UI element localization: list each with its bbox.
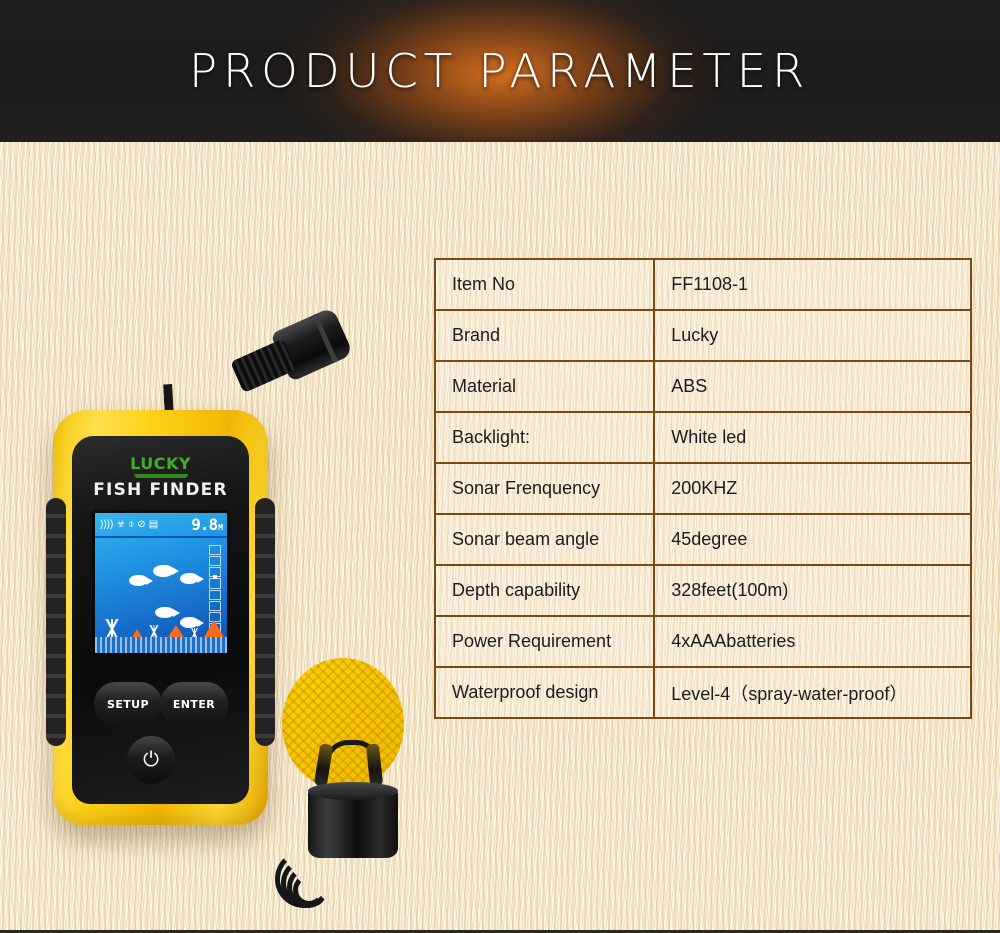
coil-loop: [293, 874, 325, 906]
button-pair: SETUP ENTER: [94, 682, 228, 726]
spec-label: Sonar Frenquency: [435, 463, 654, 514]
spec-value: White led: [654, 412, 971, 463]
page-header-banner: PRODUCT PARAMETER: [0, 0, 1000, 142]
spec-label: Sonar beam angle: [435, 514, 654, 565]
connector-neck: [230, 338, 297, 393]
scale-tick: [209, 578, 221, 588]
seaweed-icon: [101, 619, 123, 639]
bracket-arm-left: [314, 743, 333, 787]
spec-label: Brand: [435, 310, 654, 361]
fish-finder-unit: LUCKY FISH FINDER )))) ☣ ⌽ ⊘ ▤: [53, 410, 268, 825]
setup-button[interactable]: SETUP: [94, 682, 162, 726]
table-row: Depth capability 328feet(100m): [435, 565, 971, 616]
battery-icon: ▤: [149, 520, 158, 530]
power-icon: ⏻: [143, 749, 159, 772]
scale-tick: [209, 545, 221, 555]
scale-tick: [209, 556, 221, 566]
sonar-transducer: [308, 770, 398, 858]
fish-alarm-off-icon: ⌽: [128, 520, 134, 530]
table-row: Brand Lucky: [435, 310, 971, 361]
fish-finder-label: FISH FINDER: [72, 480, 249, 500]
lcd-depth-value: 9.8: [191, 515, 217, 534]
cable-connector: [226, 307, 353, 402]
spec-label: Power Requirement: [435, 616, 654, 667]
spec-value: Level-4（spray-water-proof）: [654, 667, 971, 718]
lucky-brand-logo: LUCKY: [72, 454, 249, 473]
spec-value: 200KHZ: [654, 463, 971, 514]
table-row: Waterproof design Level-4（spray-water-pr…: [435, 667, 971, 718]
table-row: Item No FF1108-1: [435, 259, 971, 310]
spec-value: 4xAAAbatteries: [654, 616, 971, 667]
sonar-waves-icon: )))): [100, 520, 113, 530]
spec-label: Depth capability: [435, 565, 654, 616]
transducer-bracket: [314, 740, 392, 786]
spec-value: Lucky: [654, 310, 971, 361]
page-title: PRODUCT PARAMETER: [189, 44, 810, 98]
fish-icon: [129, 575, 147, 586]
spec-label: Material: [435, 361, 654, 412]
table-row: Power Requirement 4xAAAbatteries: [435, 616, 971, 667]
lcd-cursor-dot: [213, 575, 217, 579]
lcd-screen: )))) ☣ ⌽ ⊘ ▤ 9.8M: [92, 510, 230, 656]
enter-button[interactable]: ENTER: [160, 682, 228, 726]
lcd-depth-reading: 9.8M: [191, 515, 222, 534]
spec-value: 328feet(100m): [654, 565, 971, 616]
spec-label: Waterproof design: [435, 667, 654, 718]
spec-value: FF1108-1: [654, 259, 971, 310]
table-row: Sonar Frenquency 200KHZ: [435, 463, 971, 514]
fish-icon: [180, 573, 198, 584]
table-row: Material ABS: [435, 361, 971, 412]
product-photo: LUCKY FISH FINDER )))) ☣ ⌽ ⊘ ▤: [20, 150, 430, 890]
brand-underline-swoosh: [134, 474, 188, 478]
product-parameter-table: Item No FF1108-1 Brand Lucky Material AB…: [434, 258, 972, 719]
spec-value: 45degree: [654, 514, 971, 565]
transducer-top-cap: [308, 782, 398, 800]
bracket-arm-right: [366, 743, 383, 786]
rubber-grip-right: [255, 498, 275, 746]
table-row: Sonar beam angle 45degree: [435, 514, 971, 565]
product-parameter-page: PRODUCT PARAMETER: [0, 0, 1000, 933]
scale-tick: [209, 601, 221, 611]
power-button[interactable]: ⏻: [127, 736, 175, 784]
spec-label: Backlight:: [435, 412, 654, 463]
seabed-band: [95, 637, 227, 653]
table-row: Backlight: White led: [435, 412, 971, 463]
depth-alarm-off-icon: ⊘: [137, 520, 145, 530]
lcd-depth-unit: M: [218, 523, 222, 532]
fish-alarm-icon: ☣: [116, 520, 125, 530]
device-faceplate: LUCKY FISH FINDER )))) ☣ ⌽ ⊘ ▤: [72, 436, 249, 804]
rubber-grip-left: [46, 498, 66, 746]
fish-icon: [153, 565, 173, 577]
lcd-icon-group: )))) ☣ ⌽ ⊘ ▤: [100, 520, 158, 530]
fish-icon: [155, 607, 174, 618]
spec-table-body: Item No FF1108-1 Brand Lucky Material AB…: [435, 259, 971, 718]
scale-tick: [209, 590, 221, 600]
spec-value: ABS: [654, 361, 971, 412]
lcd-status-bar: )))) ☣ ⌽ ⊘ ▤ 9.8M: [95, 513, 227, 538]
spec-label: Item No: [435, 259, 654, 310]
coiled-cable: [275, 850, 349, 926]
